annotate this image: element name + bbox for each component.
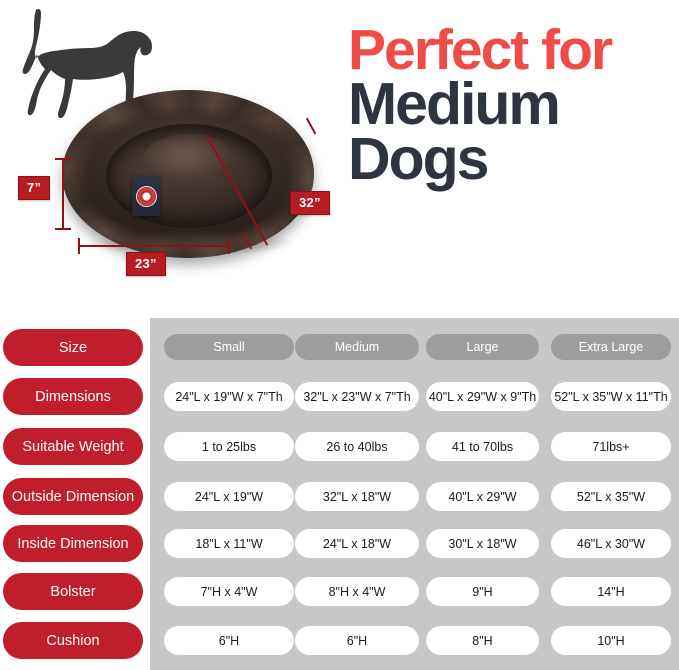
spec-table-panel: SmallMediumLargeExtra Large24"L x 19"W x…	[150, 318, 679, 670]
spec-column-header-large: Large	[426, 334, 539, 360]
bed-base-shadow	[88, 230, 294, 256]
spec-column-header-small: Small	[164, 334, 294, 360]
table-cell: 24"L x 19"W x 7"Th	[164, 382, 294, 411]
spec-row-label-suitable-weight: Suitable Weight	[3, 428, 143, 465]
hero-section: 7” 23” 32” Perfect for Medium Dogs	[0, 0, 679, 318]
headline-line-1: Perfect for	[348, 24, 679, 77]
spec-row-label-outside-dimension: Outside Dimension	[3, 478, 143, 515]
brand-logo-badge-icon	[136, 186, 157, 207]
spec-row-label-cushion: Cushion	[3, 622, 143, 659]
dog-bed-image	[62, 90, 314, 266]
dimension-label-width: 23”	[126, 252, 166, 276]
spec-column-header-extra-large: Extra Large	[551, 334, 671, 360]
spec-row-label-bolster: Bolster	[3, 573, 143, 610]
width-measure-cap-right	[228, 238, 230, 254]
spec-row-label-inside-dimension: Inside Dimension	[3, 525, 143, 562]
dimension-label-height: 7”	[18, 176, 50, 200]
page-title: Perfect for Medium Dogs	[348, 24, 679, 187]
dimension-label-length: 32”	[290, 191, 330, 215]
table-cell: 18"L x 11"W	[164, 529, 294, 558]
table-cell: 26 to 40lbs	[295, 432, 419, 461]
height-measure-cap-bottom	[55, 228, 71, 230]
spec-row-label-dimensions: Dimensions	[3, 378, 143, 415]
table-cell: 1 to 25lbs	[164, 432, 294, 461]
height-measure-line	[62, 158, 64, 230]
spec-table-label-column: SizeDimensionsSuitable WeightOutside Dim…	[0, 318, 150, 670]
width-measure-cap-left	[78, 238, 80, 254]
table-cell: 9"H	[426, 577, 539, 606]
table-cell: 46"L x 30"W	[551, 529, 671, 558]
table-cell: 32"L x 18"W	[295, 482, 419, 511]
headline-line-3: Dogs	[348, 132, 679, 187]
spec-column-header-medium: Medium	[295, 334, 419, 360]
table-cell: 24"L x 18"W	[295, 529, 419, 558]
table-cell: 40"L x 29"W x 9"Th	[426, 382, 539, 411]
table-cell: 52"L x 35"W x 11"Th	[551, 382, 671, 411]
table-cell: 40"L x 29"W	[426, 482, 539, 511]
table-cell: 8"H x 4"W	[295, 577, 419, 606]
spec-row-label-size: Size	[3, 329, 143, 366]
table-cell: 14"H	[551, 577, 671, 606]
brand-tag	[132, 176, 160, 216]
table-cell: 7"H x 4"W	[164, 577, 294, 606]
table-cell: 71lbs+	[551, 432, 671, 461]
headline-line-2: Medium	[348, 77, 679, 132]
height-measure-cap-top	[55, 158, 71, 160]
table-cell: 41 to 70lbs	[426, 432, 539, 461]
table-cell: 8"H	[426, 626, 539, 655]
table-cell: 32"L x 23"W x 7"Th	[295, 382, 419, 411]
table-cell: 30"L x 18"W	[426, 529, 539, 558]
table-cell: 10"H	[551, 626, 671, 655]
width-measure-line	[78, 245, 230, 247]
table-cell: 6"H	[164, 626, 294, 655]
table-cell: 6"H	[295, 626, 419, 655]
table-cell: 24"L x 19"W	[164, 482, 294, 511]
table-cell: 52"L x 35"W	[551, 482, 671, 511]
